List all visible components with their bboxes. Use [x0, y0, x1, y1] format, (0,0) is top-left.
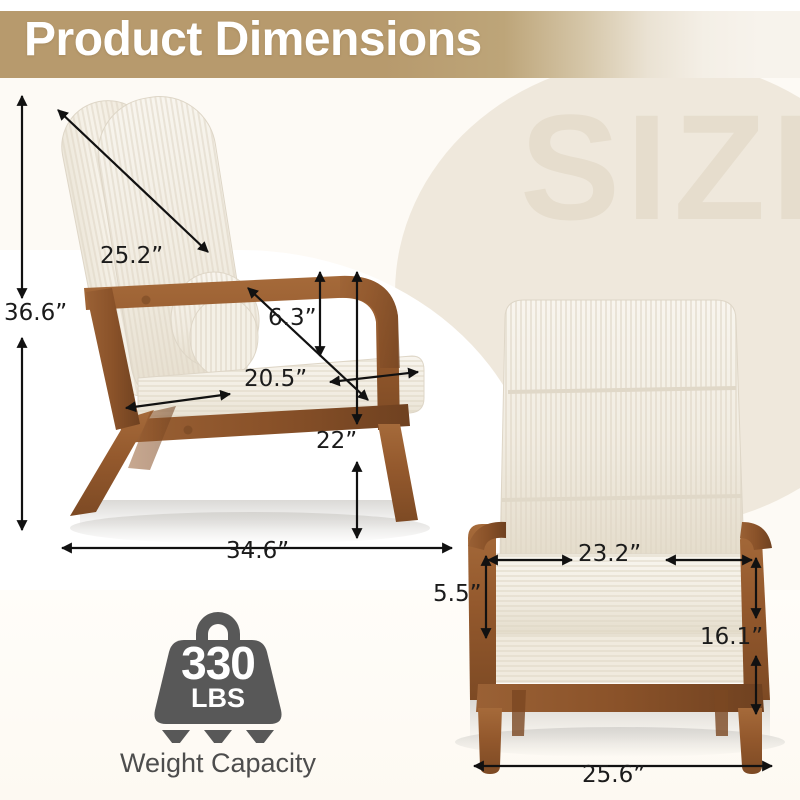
label-arm-height: 22” [316, 428, 357, 454]
label-front-overall-width: 25.6” [582, 762, 645, 788]
arrow-backrest-upper [58, 110, 208, 252]
infographic-canvas: SIZE Product Dimensions [0, 0, 800, 800]
label-front-seat-height: 16.1” [700, 624, 763, 650]
label-overall-height: 36.6” [4, 300, 67, 326]
weight-capacity-value: 330 [118, 636, 318, 690]
weight-capacity-unit: LBS [118, 683, 318, 714]
label-seat-depth: 20.5” [244, 366, 307, 392]
weight-capacity-caption: Weight Capacity [94, 748, 342, 779]
label-front-seat-width: 23.2” [578, 541, 641, 567]
label-backrest-height: 25.2” [100, 243, 163, 269]
label-cushion-thickness: 6.3” [268, 305, 317, 331]
arrow-seat-depth-left [126, 394, 230, 408]
label-front-cushion-thickness: 5.5” [433, 581, 482, 607]
label-overall-depth: 34.6” [226, 538, 289, 564]
weight-capacity-badge: 330 LBS Weight Capacity [118, 608, 378, 788]
